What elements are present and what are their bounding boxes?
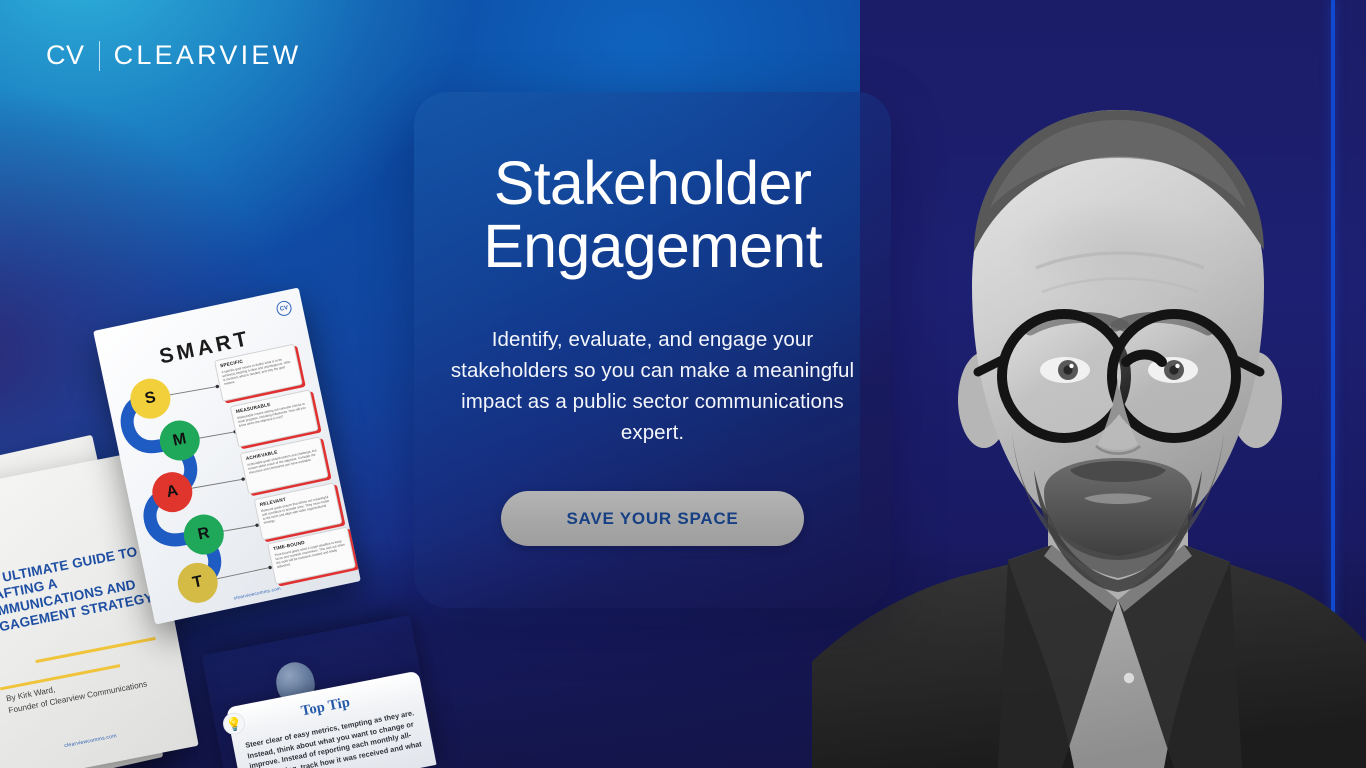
smart-letter: A [165,482,180,502]
save-your-space-button[interactable]: SAVE YOUR SPACE [501,491,804,546]
ebook-title: THE ULTIMATE GUIDE TO CRAFTING A COMMUNI… [0,542,157,638]
ebook-rule-top [35,637,155,663]
page-title-line2: Engagement [483,212,822,280]
smart-letter: S [143,389,157,409]
page-title-line1: Stakeholder [494,149,812,217]
ebook-url: clearviewcomms.com [64,733,117,749]
portrait-illustration [812,0,1366,768]
smart-letter: T [191,573,204,593]
poster-canvas: CV CLEARVIEW [0,0,1366,768]
page-title: Stakeholder Engagement [442,152,863,278]
hero-subtitle: Identify, evaluate, and engage your stak… [443,324,863,449]
smart-letter: R [196,525,211,545]
hero-card: Stakeholder Engagement Identify, evaluat… [414,92,891,608]
smart-letter: M [171,430,188,450]
speaker-portrait [812,0,1366,768]
logo-mark: CV [46,40,85,71]
brand-logo[interactable]: CV CLEARVIEW [46,40,301,71]
logo-divider [99,41,100,71]
logo-wordmark: CLEARVIEW [114,40,302,71]
